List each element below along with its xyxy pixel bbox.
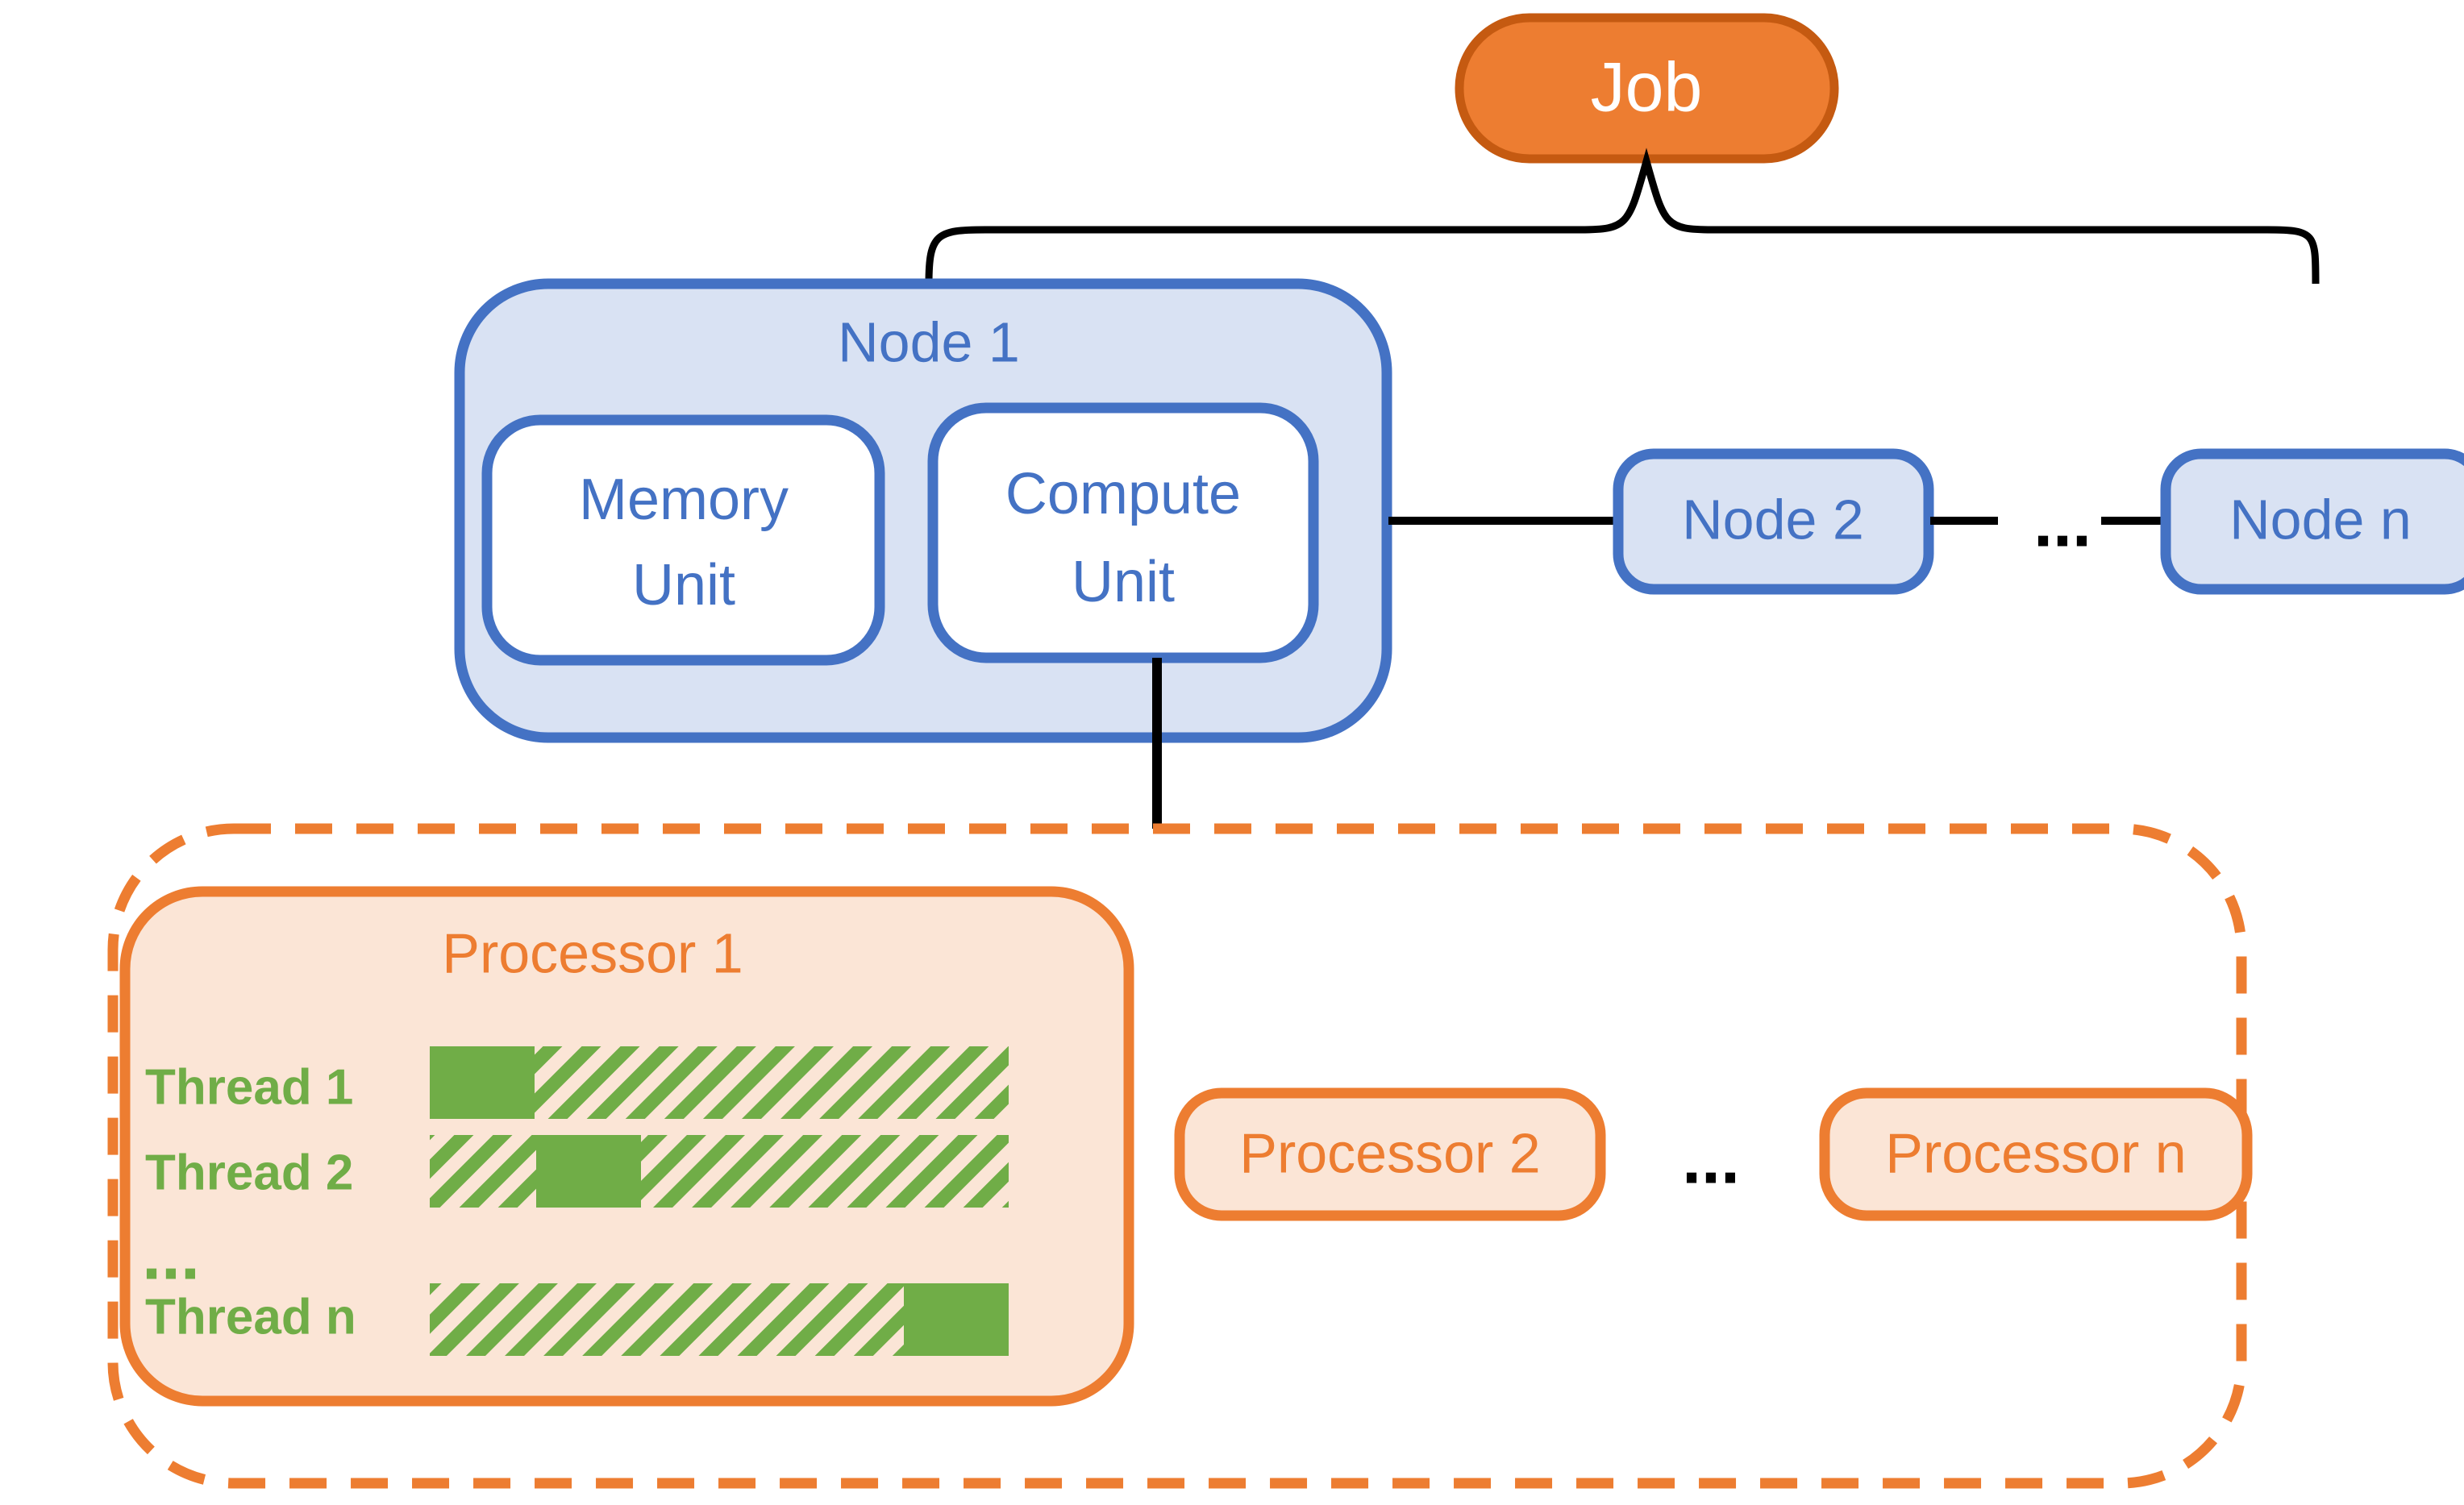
processor1-box[interactable]: Processor 1 Thread 1 Thread 2 ... Thread… (125, 892, 1129, 1401)
processor1-label: Processor 1 (442, 921, 743, 984)
thread-ellipsis: ... (142, 1217, 200, 1295)
threadn-label: Thread n (145, 1289, 356, 1345)
node-ellipsis: ... (2033, 484, 2091, 562)
processor2-label: Processor 2 (1239, 1121, 1540, 1184)
threadn-bar-busy (904, 1283, 1009, 1356)
job-to-nodes-brace (929, 161, 2316, 284)
thread2-bar-track (430, 1135, 1009, 1208)
thread1-label: Thread 1 (145, 1059, 353, 1115)
thread-row: Thread 2 (145, 1135, 1009, 1208)
diagram-canvas: Job Node 1 Memory Unit Compute Unit (0, 0, 2464, 1505)
processor-ellipsis: ... (1682, 1121, 1740, 1199)
job-box[interactable]: Job (1459, 18, 1834, 159)
node2-box[interactable]: Node 2 (1618, 454, 1929, 589)
noden-box[interactable]: Node n (2166, 454, 2464, 589)
memory-unit-label-line1: Memory (579, 468, 789, 532)
processor2-box[interactable]: Processor 2 (1180, 1093, 1600, 1216)
noden-label: Node n (2229, 488, 2412, 551)
processorn-box[interactable]: Processor n (1825, 1093, 2247, 1216)
compute-unit-label-line2: Unit (1072, 550, 1175, 614)
node1-container[interactable]: Node 1 Memory Unit Compute Unit (460, 284, 1387, 738)
node2-label: Node 2 (1682, 488, 1864, 551)
thread2-label: Thread 2 (145, 1145, 353, 1200)
compute-unit-label-line1: Compute (1005, 462, 1241, 526)
memory-unit-shape (487, 420, 880, 660)
compute-unit-box[interactable]: Compute Unit (933, 408, 1313, 658)
thread1-bar-busy (430, 1046, 535, 1119)
compute-unit-shape (933, 408, 1313, 658)
thread2-bar-busy (536, 1135, 641, 1208)
memory-unit-label-line2: Unit (632, 553, 735, 617)
node1-label: Node 1 (838, 310, 1020, 373)
job-label: Job (1591, 49, 1703, 127)
diagram-root: Job Node 1 Memory Unit Compute Unit (0, 0, 2464, 1505)
memory-unit-box[interactable]: Memory Unit (487, 420, 880, 660)
processorn-label: Processor n (1885, 1121, 2186, 1184)
